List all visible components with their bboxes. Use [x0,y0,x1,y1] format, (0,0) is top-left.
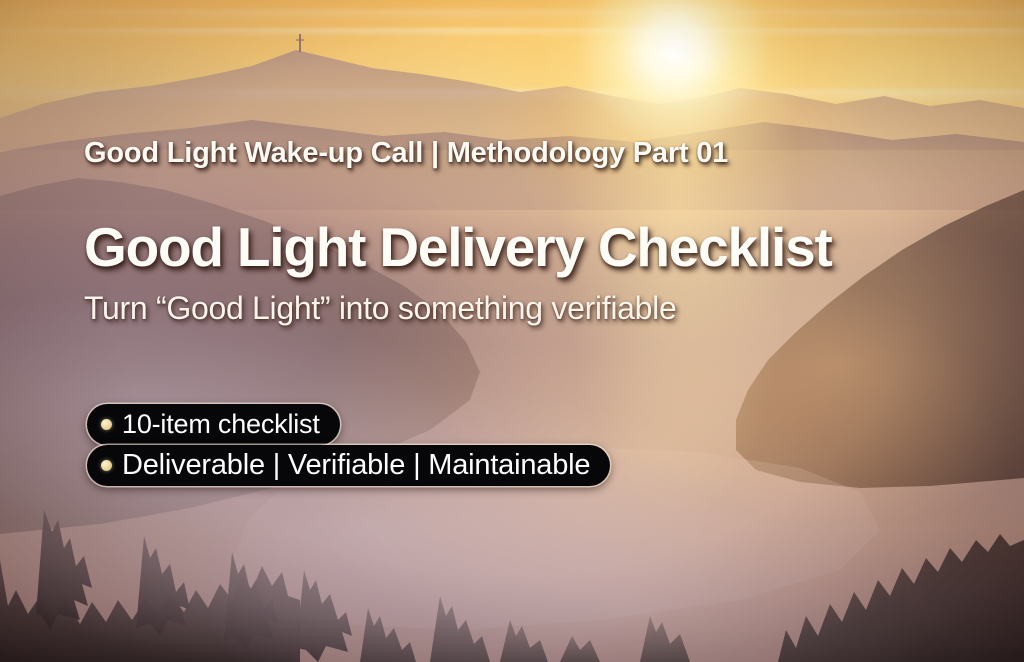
badge-checklist-count: 10-item checklist [87,404,340,445]
subtitle-text: Turn “Good Light” into something verifia… [84,291,984,326]
eyebrow-text: Good Light Wake-up Call | Methodology Pa… [84,138,984,170]
text-block: Good Light Wake-up Call | Methodology Pa… [84,138,984,326]
badge-list: 10-item checklist Deliverable | Verifiab… [87,404,610,486]
badge-qualities: Deliverable | Verifiable | Maintainable [87,445,610,486]
badge-label: 10-item checklist [122,411,320,438]
page-title: Good Light Delivery Checklist [84,218,984,277]
badge-label: Deliverable | Verifiable | Maintainable [122,451,590,480]
landscape-silhouette-layer [0,0,1024,662]
slide-canvas: Good Light Wake-up Call | Methodology Pa… [0,0,1024,662]
bullet-dot-icon [101,419,112,430]
bullet-dot-icon [101,460,112,471]
radio-tower-icon [299,34,301,52]
